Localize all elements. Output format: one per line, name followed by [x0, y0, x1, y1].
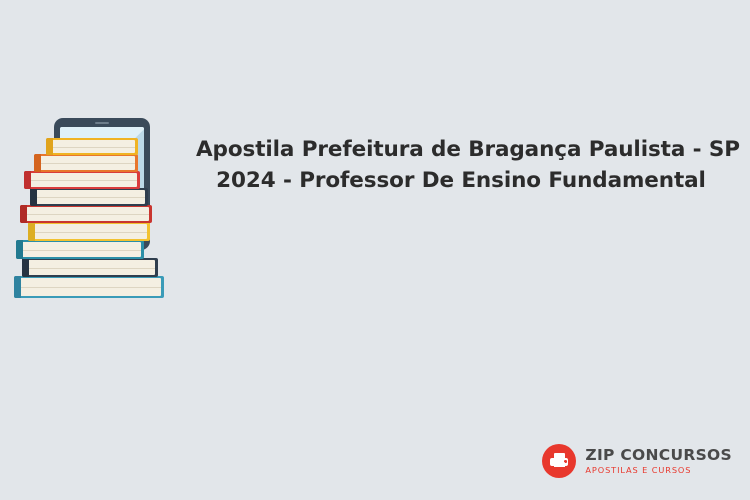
book-spine: [22, 258, 29, 277]
book-base-blue: [14, 276, 164, 298]
book-dark-navy: [30, 188, 148, 206]
book-spine: [24, 171, 31, 189]
page-canvas: Apostila Prefeitura de Bragança Paulista…: [0, 0, 750, 500]
page-title: Apostila Prefeitura de Bragança Paulista…: [196, 134, 726, 196]
book-pages: [33, 224, 147, 239]
page-title-line-2: 2024 - Professor De Ensino Fundamental: [196, 165, 726, 196]
book-spine: [30, 188, 37, 206]
tablet-and-books-illustration: [14, 118, 184, 313]
book-pages: [29, 173, 137, 187]
book-red: [24, 171, 140, 189]
book-pages: [35, 190, 145, 204]
book-teal: [16, 240, 144, 259]
book-pages: [19, 278, 161, 296]
printer-icon: [542, 444, 576, 478]
book-spine: [16, 240, 23, 259]
brand-name: ZIP CONCURSOS: [585, 448, 732, 464]
book-pages: [25, 207, 149, 221]
book-spine: [20, 205, 27, 223]
brand-tagline: APOSTILAS E CURSOS: [585, 466, 732, 474]
printer-paper-out: [554, 462, 565, 469]
book-spine: [34, 154, 41, 172]
book-pages: [39, 156, 135, 170]
book-spine: [28, 222, 35, 241]
book-pages: [21, 242, 141, 257]
book-navy-bottom: [22, 258, 158, 277]
printer-glyph: [550, 453, 568, 469]
brand-logo: ZIP CONCURSOS APOSTILAS E CURSOS: [542, 444, 732, 478]
page-title-line-1: Apostila Prefeitura de Bragança Paulista…: [196, 134, 726, 165]
tablet-speaker: [95, 122, 109, 124]
brand-logo-text: ZIP CONCURSOS APOSTILAS E CURSOS: [585, 448, 732, 475]
book-top-yellow: [46, 138, 138, 155]
book-pages: [27, 260, 155, 275]
book-spine: [14, 276, 21, 298]
book-red-2: [20, 205, 152, 223]
book-yellow-2: [28, 222, 150, 241]
book-pages: [51, 140, 135, 153]
book-spine: [46, 138, 53, 155]
book-orange: [34, 154, 138, 172]
